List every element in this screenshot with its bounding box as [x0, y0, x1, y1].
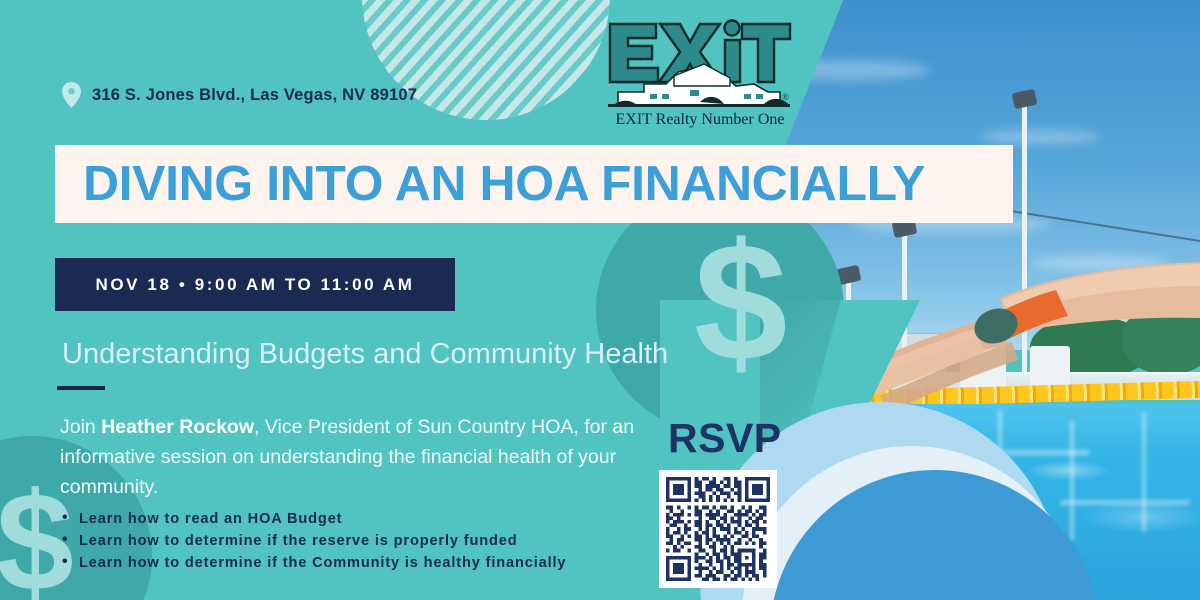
svg-text:®: ®: [782, 92, 789, 102]
description-paragraph: Join Heather Rockow, Vice President of S…: [60, 412, 652, 502]
address-text: 316 S. Jones Blvd., Las Vegas, NV 89107: [92, 86, 417, 105]
rsvp-label: RSVP: [668, 415, 782, 462]
page-title: DIVING INTO AN HOA FINANCIALLY: [83, 156, 925, 212]
speaker-name: Heather Rockow: [101, 416, 254, 438]
date-time-text: NOV 18 • 9:00 AM TO 11:00 AM: [95, 275, 414, 295]
paragraph-before: Join: [60, 416, 101, 438]
address-row: 316 S. Jones Blvd., Las Vegas, NV 89107: [62, 82, 417, 108]
exit-realty-logo: ® EXIT Realty Number One: [604, 14, 796, 130]
logo-tagline: EXIT Realty Number One: [616, 111, 785, 128]
event-banner: $ $ 316 S. Jones Blvd., Las Vegas, NV 89…: [0, 0, 1200, 600]
location-pin-icon: [62, 82, 81, 108]
learning-points-list: Learn how to read an HOA Budget Learn ho…: [62, 508, 642, 574]
cloud: [980, 130, 1100, 144]
list-item: Learn how to determine if the Community …: [62, 552, 642, 574]
date-time-badge: NOV 18 • 9:00 AM TO 11:00 AM: [55, 258, 455, 311]
dollar-sign-icon: $: [694, 218, 787, 386]
subtitle: Understanding Budgets and Community Heal…: [62, 338, 668, 371]
list-item: Learn how to read an HOA Budget: [62, 508, 642, 530]
qr-code-image: [666, 477, 770, 581]
title-band: DIVING INTO AN HOA FINANCIALLY: [55, 145, 1013, 223]
divider-rule: [57, 386, 105, 390]
list-item: Learn how to determine if the reserve is…: [62, 530, 642, 552]
qr-code[interactable]: [659, 470, 777, 588]
